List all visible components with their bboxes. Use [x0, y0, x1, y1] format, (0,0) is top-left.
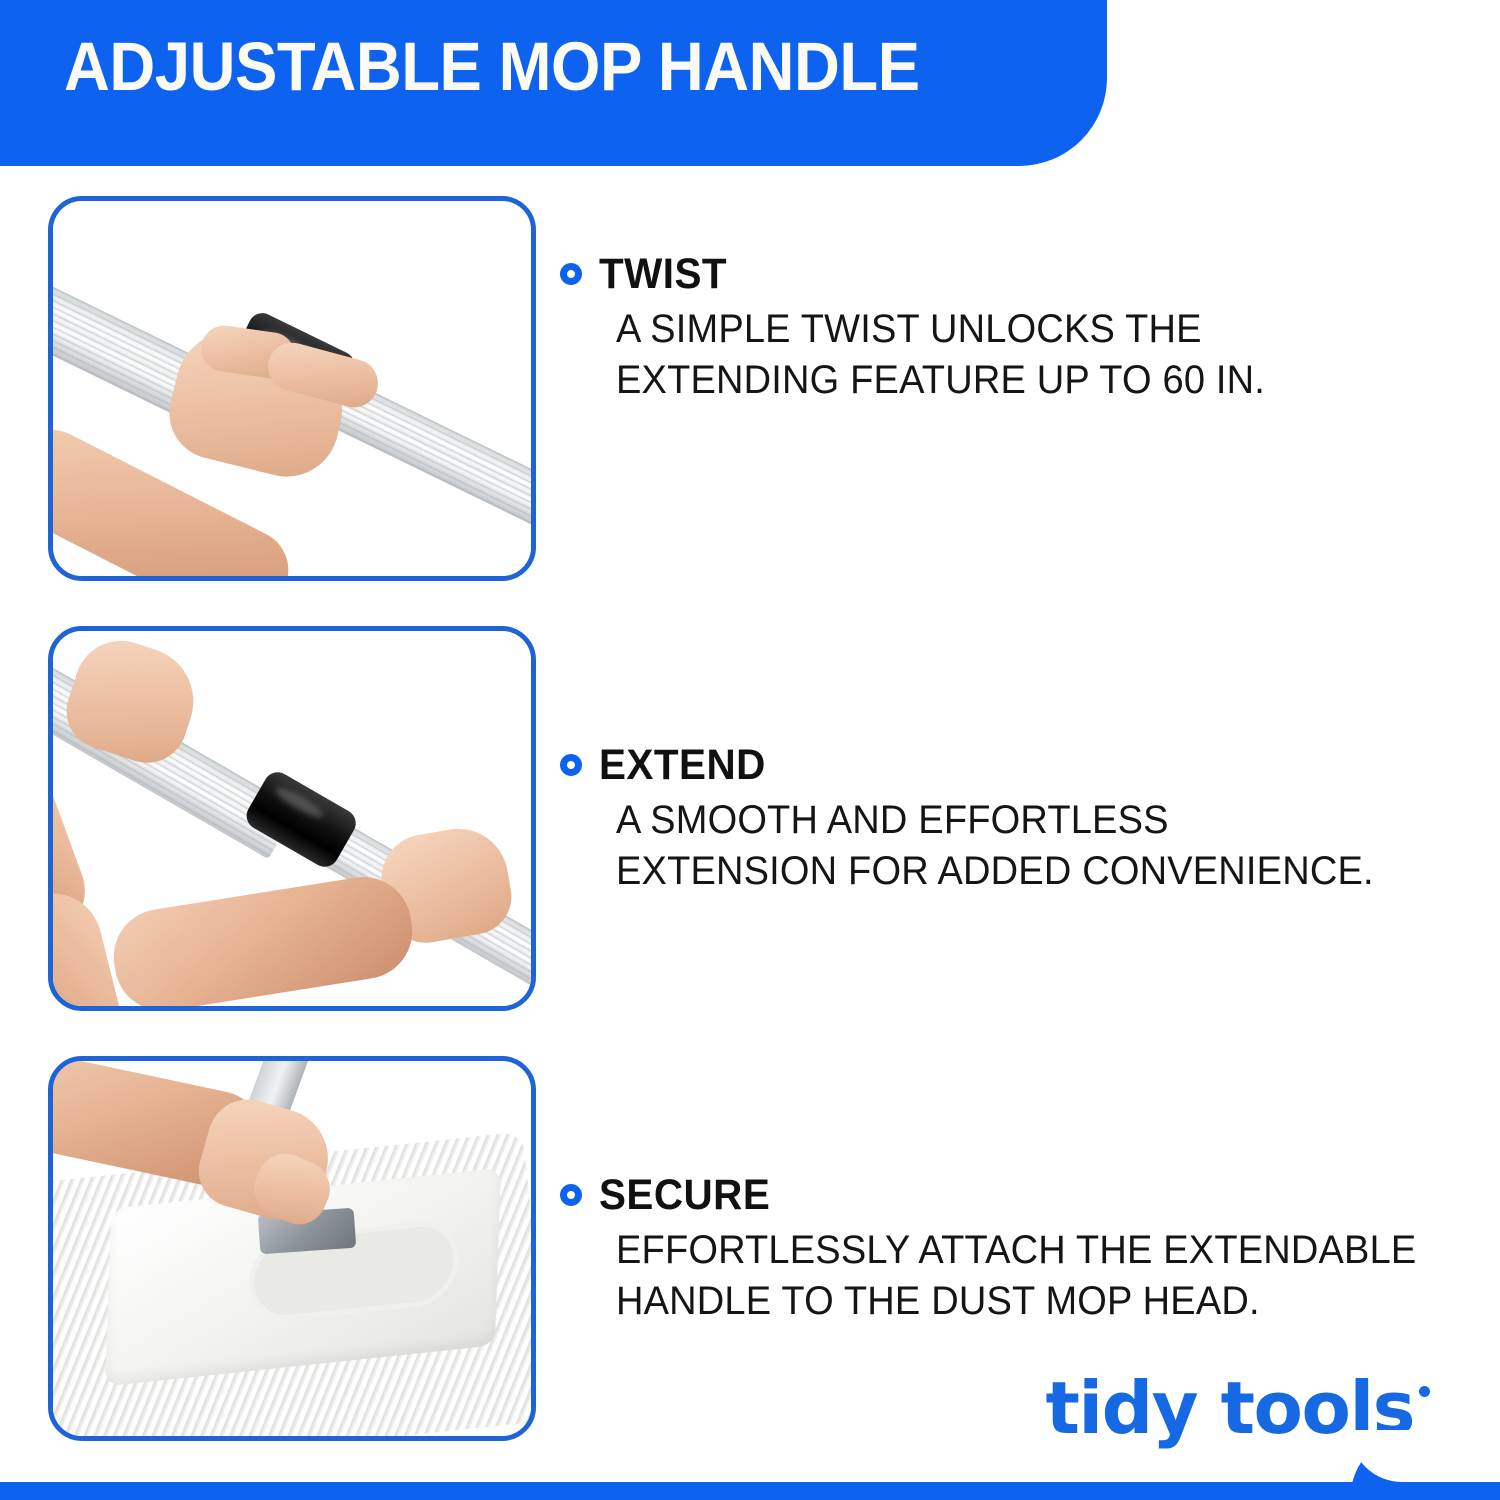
photo-scene-extend [53, 631, 531, 1006]
feature-title-extend: EXTEND [599, 741, 766, 789]
feature-body-line: EFFORTLESSLY ATTACH THE EXTENDABLE [616, 1225, 1399, 1276]
feature-body-line: EXTENSION FOR ADDED CONVENIENCE. [616, 846, 1399, 897]
feature-row-twist: TWIST A SIMPLE TWIST UNLOCKS THE EXTENDI… [0, 196, 1500, 581]
photo-scene-secure [53, 1061, 531, 1436]
feature-body-line: EXTENDING FEATURE UP TO 60 IN. [616, 355, 1399, 406]
feature-title-secure: SECURE [599, 1171, 770, 1219]
photo-scene-twist [53, 201, 531, 576]
feature-heading-secure: SECURE [560, 1171, 1440, 1219]
feature-body-secure: EFFORTLESSLY ATTACH THE EXTENDABLE HANDL… [616, 1225, 1399, 1327]
feature-body-extend: A SMOOTH AND EFFORTLESS EXTENSION FOR AD… [616, 795, 1399, 897]
collar-highlight [273, 784, 326, 822]
feature-image-secure [48, 1056, 536, 1441]
ring-bullet-icon [560, 263, 582, 285]
header-banner: ADJUSTABLE MOP HANDLE [0, 0, 1107, 166]
feature-text-extend: EXTEND A SMOOTH AND EFFORTLESS EXTENSION… [560, 626, 1440, 1011]
feature-row-extend: EXTEND A SMOOTH AND EFFORTLESS EXTENSION… [0, 626, 1500, 1011]
feature-heading-twist: TWIST [560, 250, 1440, 298]
feature-body-line: A SIMPLE TWIST UNLOCKS THE [616, 304, 1399, 355]
feature-title-twist: TWIST [599, 250, 727, 298]
feature-heading-extend: EXTEND [560, 741, 1440, 789]
feature-image-extend [48, 626, 536, 1011]
footer-band [0, 1482, 1500, 1500]
feature-body-twist: A SIMPLE TWIST UNLOCKS THE EXTENDING FEA… [616, 304, 1399, 406]
trademark-dot-icon [1419, 1386, 1430, 1397]
ring-bullet-icon [560, 1184, 582, 1206]
ring-bullet-icon [560, 754, 582, 776]
infographic-page: ADJUSTABLE MOP HANDLE [0, 0, 1500, 1500]
feature-body-line: A SMOOTH AND EFFORTLESS [616, 795, 1399, 846]
feature-text-twist: TWIST A SIMPLE TWIST UNLOCKS THE EXTENDI… [560, 196, 1440, 581]
forearm-lower [107, 870, 419, 1011]
feature-image-twist [48, 196, 536, 581]
page-title: ADJUSTABLE MOP HANDLE [64, 28, 920, 106]
feature-body-line: HANDLE TO THE DUST MOP HEAD. [616, 1276, 1399, 1327]
